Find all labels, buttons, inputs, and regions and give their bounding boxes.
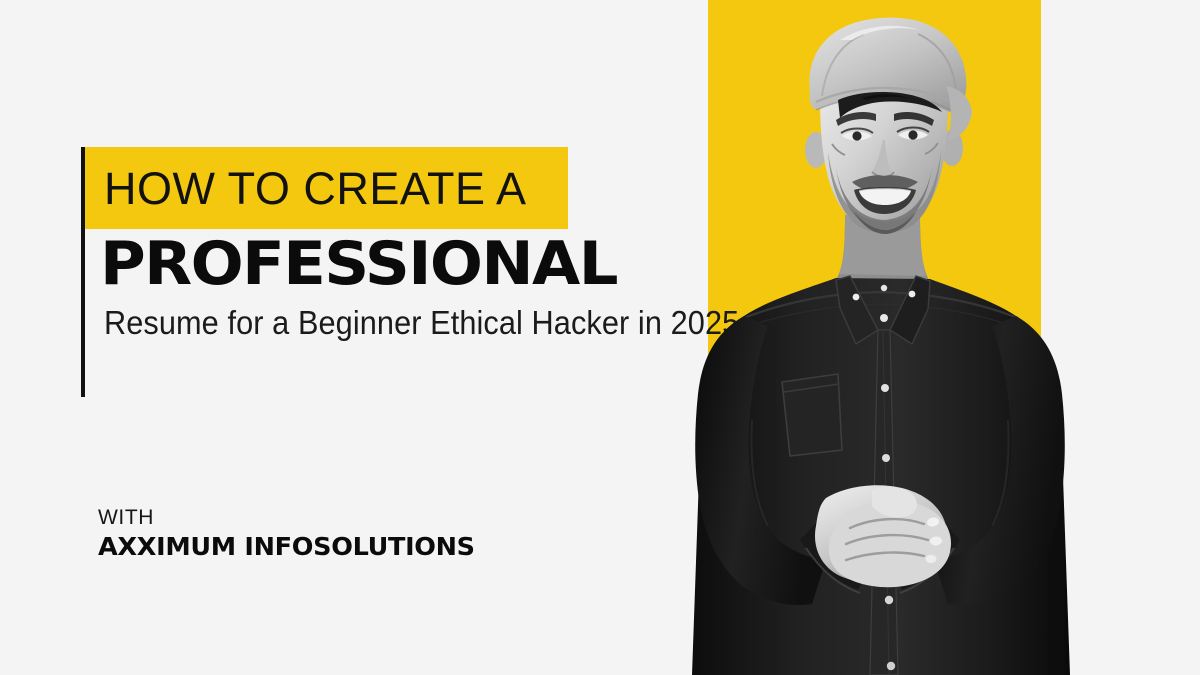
eyebrow-text: HOW TO CREATE A <box>104 166 527 211</box>
page-title: PROFESSIONAL <box>100 234 617 294</box>
eyebrow-band: HOW TO CREATE A <box>85 147 568 229</box>
portrait-photo <box>640 0 1160 675</box>
brand-name: AXXIMUM INFOSOLUTIONS <box>98 533 475 562</box>
credit-with-label: WITH <box>98 505 467 531</box>
presentation-slide: HOW TO CREATE A PROFESSIONAL Resume for … <box>0 0 1200 675</box>
credit-block: WITH AXXIMUM INFOSOLUTIONS <box>98 505 467 562</box>
